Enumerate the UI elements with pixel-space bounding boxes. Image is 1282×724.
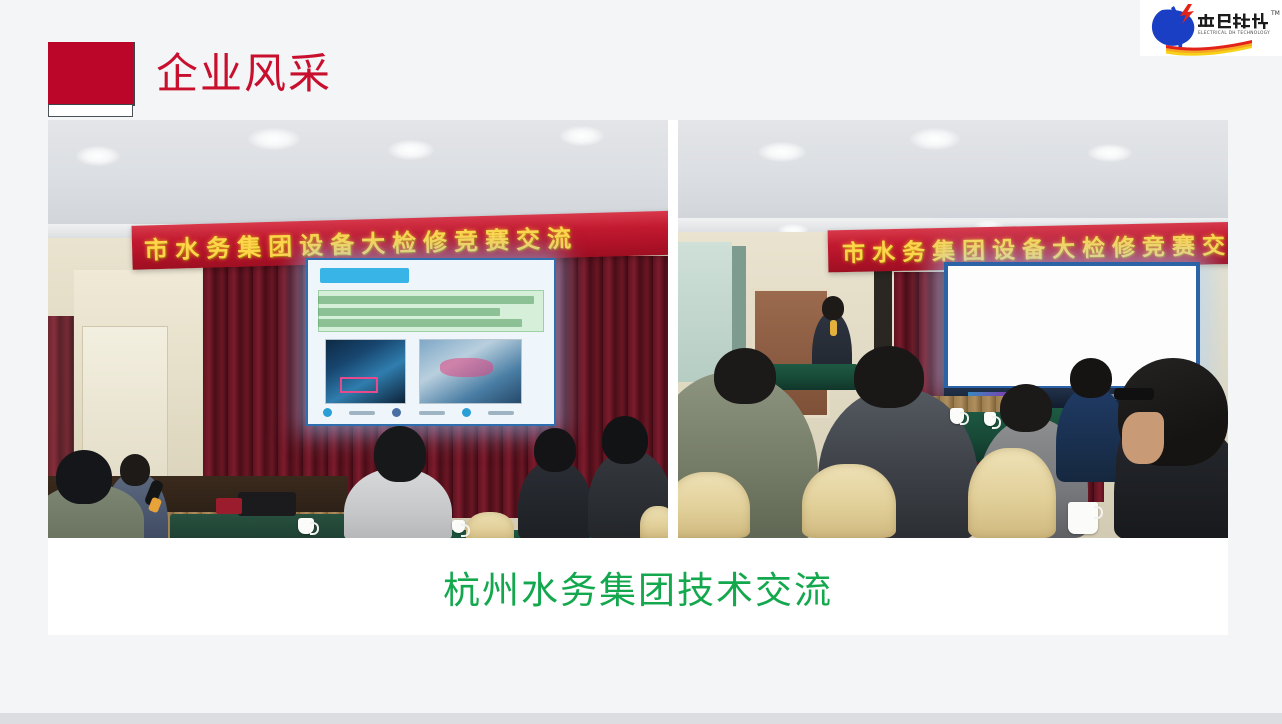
eyeglasses-icon	[1114, 388, 1154, 400]
projector-slide	[306, 258, 556, 426]
header-red-badge	[48, 42, 135, 106]
gallery-caption: 杭州水务集团技术交流	[443, 560, 833, 614]
photo-row: 市水务集团设备大检修竞赛交流	[48, 120, 1228, 538]
microphone-right	[830, 320, 837, 336]
slide-photo-left	[325, 339, 406, 405]
svg-text:ELECTRICAL DH TECHNOLOGY: ELECTRICAL DH TECHNOLOGY	[1198, 30, 1270, 36]
slide-footer-logos	[323, 406, 539, 419]
bottom-bar	[0, 713, 1282, 724]
caption-area: 杭州水务集团技术交流	[48, 538, 1228, 635]
page-title: 企业风采	[156, 53, 332, 95]
brand-logo-mark: TM ELECTRICAL DH TECHNOLOGY	[1140, 0, 1282, 56]
photo-audience-view[interactable]: 市水务集团设备大检修竞赛交	[678, 120, 1228, 538]
photo-gap	[668, 120, 678, 538]
slide-title-bar	[320, 268, 409, 283]
brand-logo[interactable]: TM ELECTRICAL DH TECHNOLOGY	[1140, 0, 1282, 56]
gallery-card: 市水务集团设备大检修竞赛交流	[48, 120, 1228, 635]
slide-photo-right	[419, 339, 522, 405]
page-header: 企业风采	[48, 42, 332, 106]
svg-text:TM: TM	[1270, 10, 1280, 17]
photo-presentation-slide[interactable]: 市水务集团设备大检修竞赛交流	[48, 120, 668, 538]
page-root: TM ELECTRICAL DH TECHNOLOGY 企业风采	[0, 0, 1282, 724]
